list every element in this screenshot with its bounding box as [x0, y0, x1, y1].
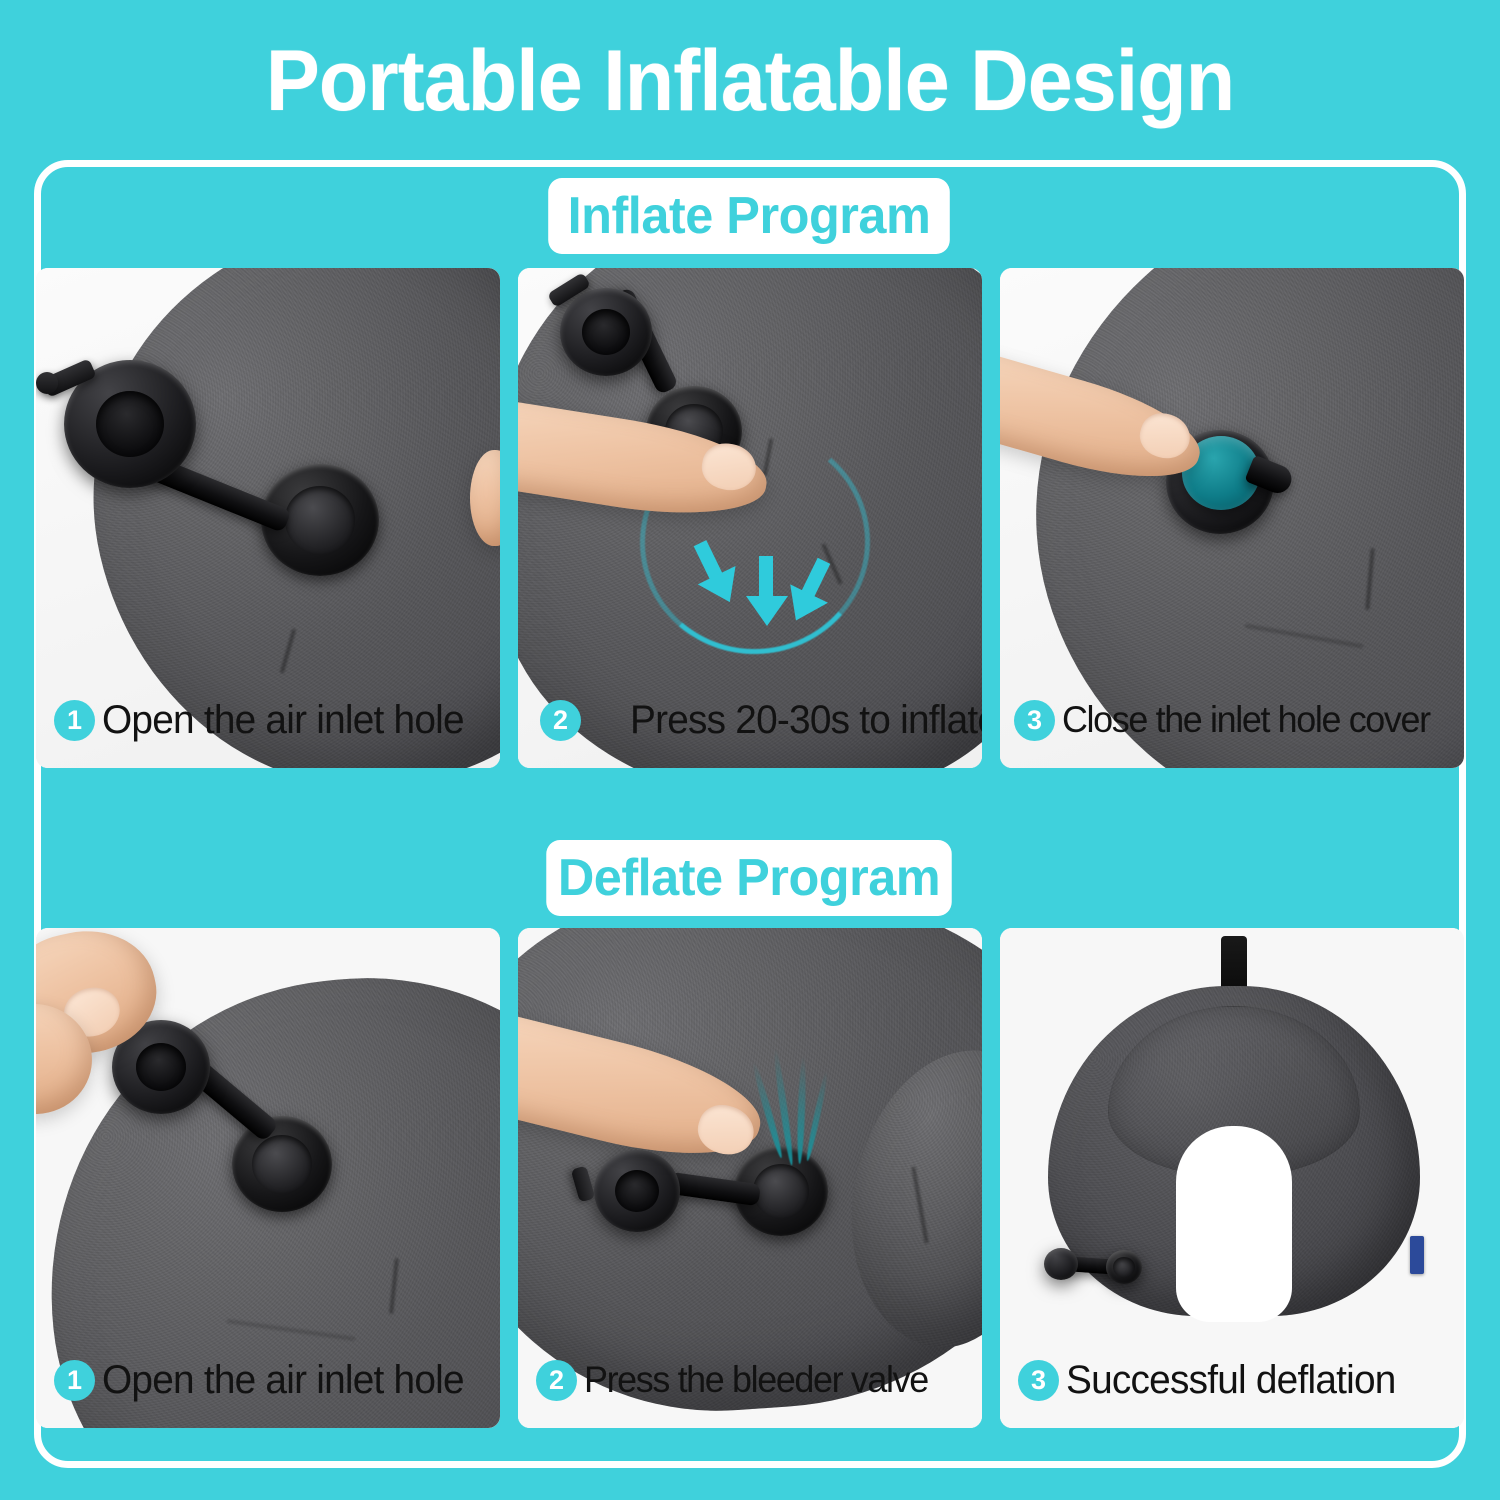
- step-card-inflate-3: 3 Close the inlet hole cover: [1000, 268, 1464, 768]
- step-caption: 3 Successful deflation: [1000, 1332, 1464, 1428]
- step-number-badge: 2: [540, 700, 581, 741]
- step-number-badge: 2: [536, 1360, 577, 1401]
- step-caption-text: Close the inlet hole cover: [1062, 699, 1430, 741]
- step-card-inflate-2: 2 Press 20-30s to inflate: [518, 268, 982, 768]
- air-inlet-bore: [1113, 1257, 1135, 1277]
- air-inlet-bore: [252, 1135, 312, 1193]
- step-number-badge: 3: [1018, 1360, 1059, 1401]
- valve-pull-tab-knob: [36, 372, 58, 394]
- step-caption-text: Successful deflation: [1066, 1358, 1396, 1403]
- neck-opening: [1176, 1126, 1292, 1322]
- step-caption: 1 Open the air inlet hole: [36, 672, 500, 768]
- step-caption-text: Open the air inlet hole: [102, 1358, 464, 1403]
- step-card-deflate-2: 2 Press the bleeder valve: [518, 928, 982, 1428]
- step-caption: 2 Press 20-30s to inflate: [518, 672, 982, 768]
- step-caption-text: Press 20-30s to inflate: [630, 698, 982, 743]
- valve-cap-bore: [96, 391, 165, 458]
- valve-cap-bore: [615, 1170, 660, 1213]
- step-caption: 1 Open the air inlet hole: [36, 1332, 500, 1428]
- section-heading-inflate: Inflate Program: [548, 178, 950, 254]
- valve-cap-bore: [582, 309, 630, 355]
- step-number-badge: 1: [54, 700, 95, 741]
- air-inlet-bore: [285, 486, 356, 553]
- bleeder-valve-bore: [753, 1164, 809, 1218]
- step-card-deflate-3: 3 Successful deflation: [1000, 928, 1464, 1428]
- air-inlet-hole: [232, 1116, 332, 1212]
- section-heading-deflate: Deflate Program: [546, 840, 951, 916]
- step-caption: 2 Press the bleeder valve: [518, 1332, 982, 1428]
- inflate-steps-row: 1 Open the air inlet hole: [36, 268, 1464, 768]
- air-inlet-hole: [1106, 1250, 1142, 1284]
- valve-cap-bore: [136, 1043, 187, 1092]
- step-caption-text: Press the bleeder valve: [584, 1359, 928, 1401]
- step-number-badge: 1: [54, 1360, 95, 1401]
- deflate-steps-row: 1 Open the air inlet hole: [36, 928, 1464, 1428]
- valve-cap: [1044, 1248, 1078, 1280]
- valve-cap-open: [594, 1150, 680, 1232]
- brand-tag: [1410, 1236, 1424, 1274]
- step-caption: 3 Close the inlet hole cover: [1000, 672, 1464, 768]
- deflated-u-pillow: [1048, 986, 1420, 1316]
- step-caption-text: Open the air inlet hole: [102, 698, 464, 743]
- step-card-inflate-1: 1 Open the air inlet hole: [36, 268, 500, 768]
- page-title: Portable Inflatable Design: [45, 22, 1455, 140]
- step-card-deflate-1: 1 Open the air inlet hole: [36, 928, 500, 1428]
- valve-cap-open: [560, 288, 652, 376]
- step-number-badge: 3: [1014, 700, 1055, 741]
